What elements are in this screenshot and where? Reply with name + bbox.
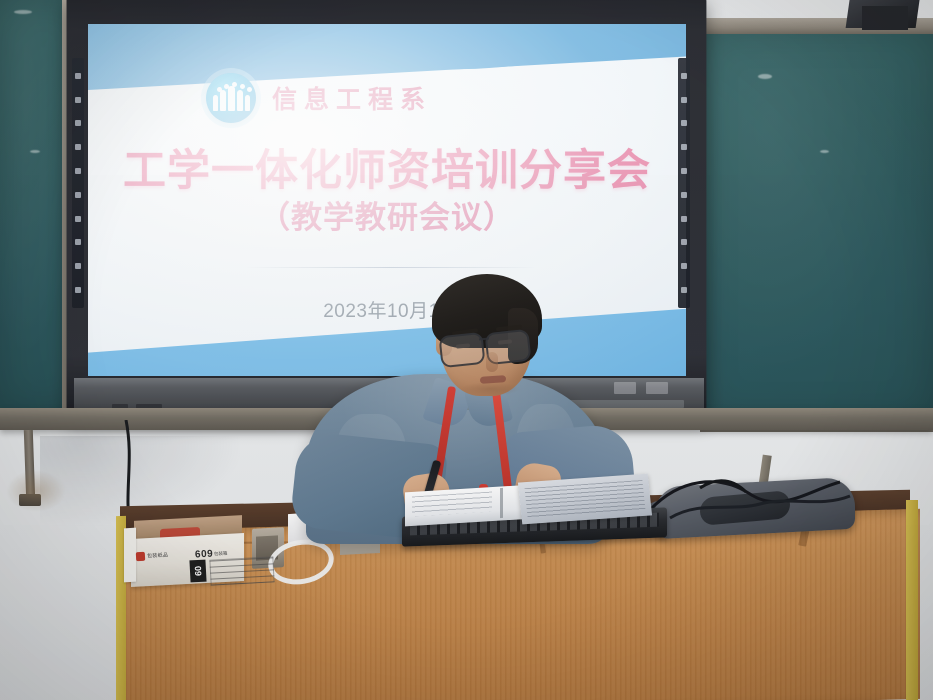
toolbar-icon-close[interactable] bbox=[75, 287, 81, 293]
eyeglass-lens-left bbox=[438, 332, 485, 368]
photo-scene: 信息工程系 工学一体化师资培训分享会 （教学教研会议） 2023年10月18 bbox=[0, 0, 933, 700]
department-name: 信息工程系 bbox=[272, 80, 432, 116]
carton-box-logo-icon bbox=[136, 552, 145, 561]
toolbar-icon-close-right[interactable] bbox=[681, 287, 687, 293]
notebook-spine bbox=[500, 488, 503, 518]
carton-box-black-tag-text: 09 bbox=[193, 566, 204, 577]
toolbar-icon-save[interactable] bbox=[75, 239, 81, 245]
display-toolbar-left[interactable] bbox=[72, 58, 84, 308]
toolbar-icon-save-right[interactable] bbox=[681, 239, 687, 245]
slide-logo-row: 信息工程系 bbox=[206, 69, 536, 127]
toolbar-icon-select[interactable] bbox=[75, 168, 81, 174]
toolbar-icon-eraser[interactable] bbox=[75, 120, 81, 126]
toolbar-icon-undo[interactable] bbox=[75, 192, 81, 198]
presenter-nose bbox=[486, 352, 498, 372]
carton-box-brand: 包装纸品 bbox=[147, 551, 169, 559]
carton-box-code-caption: 包装箱 bbox=[214, 551, 228, 558]
presenter-chin-shadow bbox=[460, 382, 520, 396]
toolbar-icon-pen[interactable] bbox=[75, 97, 81, 103]
handout-text-lines bbox=[525, 480, 646, 518]
carton-box-label-lines bbox=[209, 556, 274, 585]
podium-right-edge-strip bbox=[906, 500, 918, 700]
slide-subtitle: （教学教研会议） bbox=[88, 192, 686, 237]
toolbar-icon-select-right[interactable] bbox=[681, 168, 687, 174]
wall-stain bbox=[6, 470, 66, 512]
toolbar-icon-redo-right[interactable] bbox=[681, 216, 687, 222]
carton-box-black-tag: 09 bbox=[189, 560, 206, 583]
slide-title: 工学一体化师资培训分享会 bbox=[88, 136, 686, 198]
toolbar-icon-menu[interactable] bbox=[75, 73, 81, 79]
people-group-icon bbox=[206, 73, 256, 123]
toolbar-icon-redo[interactable] bbox=[75, 216, 81, 222]
toolbar-icon-settings-right[interactable] bbox=[681, 263, 687, 269]
toolbar-icon-shapes-right[interactable] bbox=[681, 144, 687, 150]
toolbar-icon-menu-right[interactable] bbox=[681, 73, 687, 79]
ceiling-projector-body bbox=[862, 6, 908, 30]
toolbar-icon-undo-right[interactable] bbox=[681, 192, 687, 198]
slide-divider bbox=[246, 267, 536, 268]
toolbar-icon-settings[interactable] bbox=[75, 263, 81, 269]
toolbar-icon-eraser-right[interactable] bbox=[681, 120, 687, 126]
display-toolbar-right[interactable] bbox=[678, 58, 690, 308]
toolbar-icon-pen-right[interactable] bbox=[681, 97, 687, 103]
carton-box-side-tab bbox=[124, 528, 136, 583]
toolbar-icon-shapes[interactable] bbox=[75, 144, 81, 150]
chalkboard-right bbox=[700, 30, 933, 420]
